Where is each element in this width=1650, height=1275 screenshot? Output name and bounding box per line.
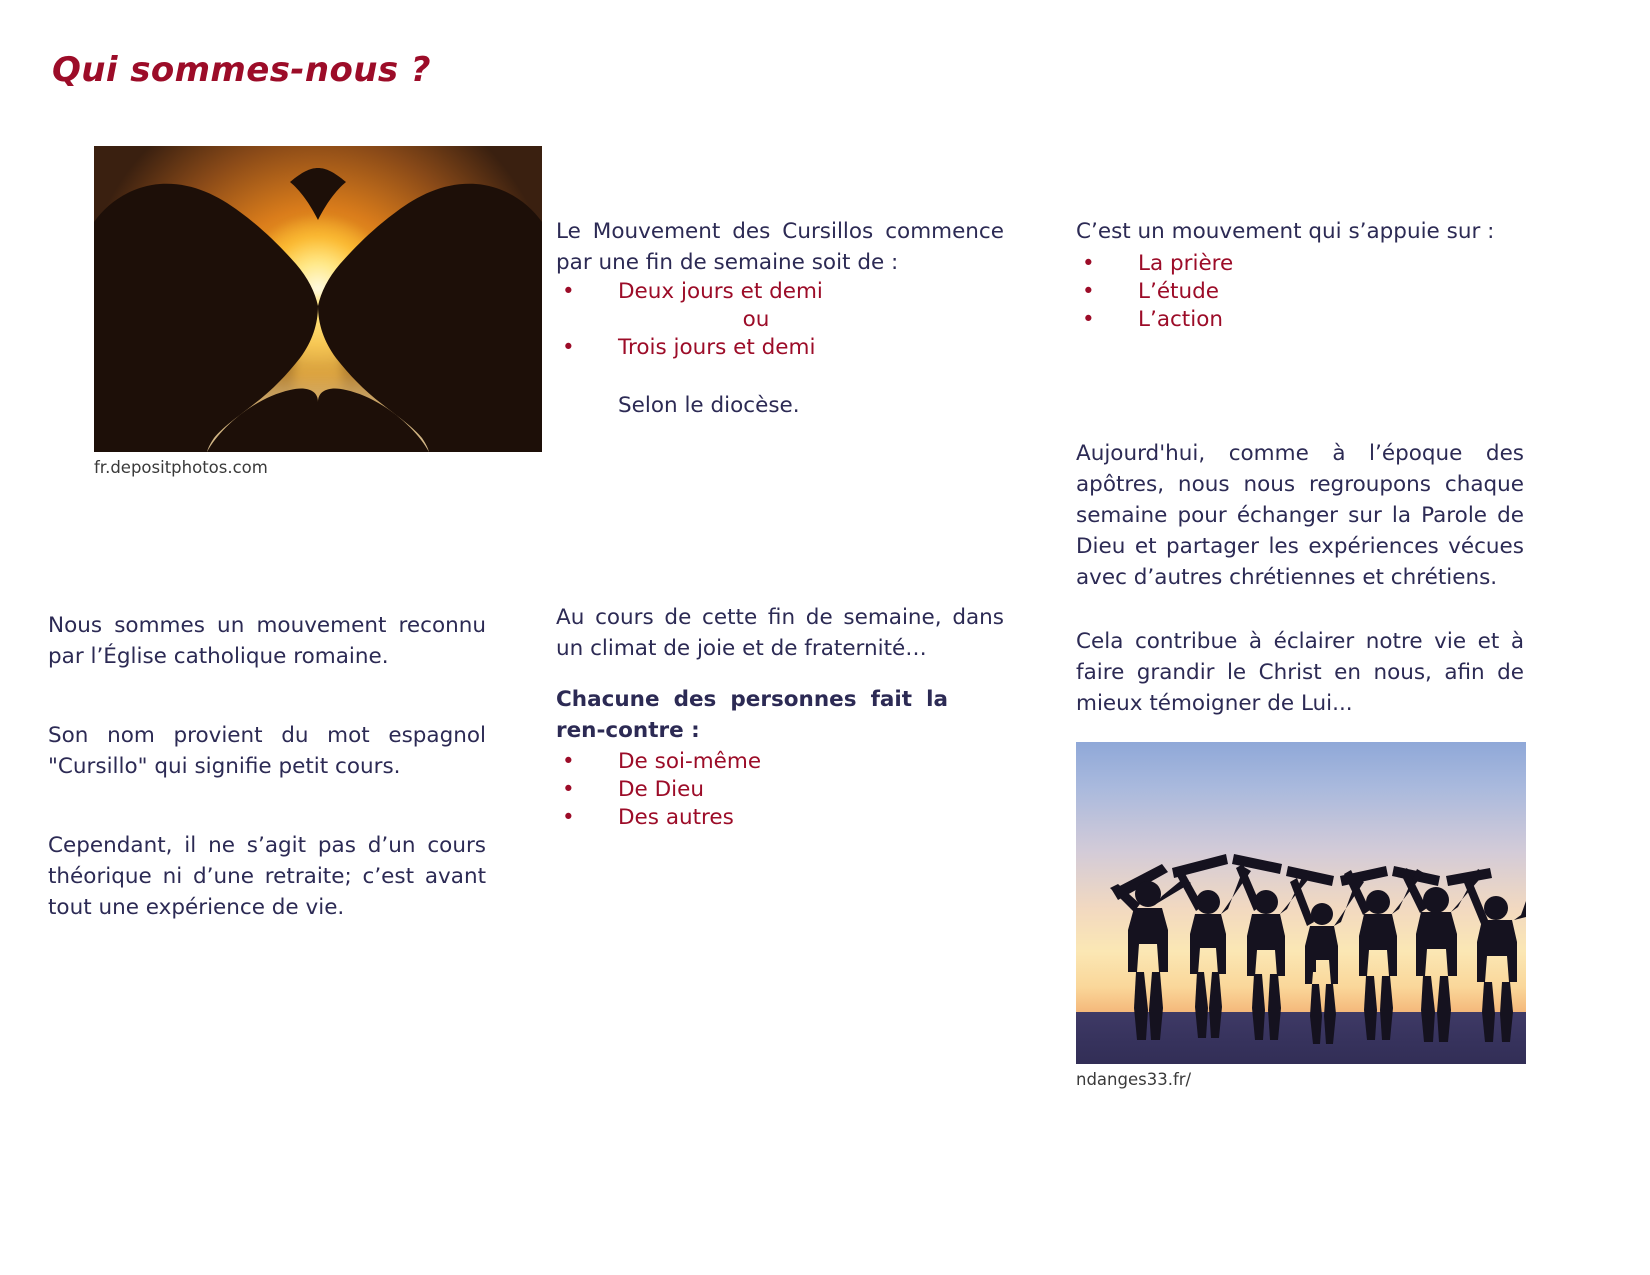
diocese-note: Selon le diocèse.	[618, 390, 800, 421]
bullet-dot-icon: •	[562, 278, 575, 306]
bullet-dot-icon: •	[562, 776, 575, 804]
bullet-dot-icon: •	[1082, 306, 1095, 334]
meeting-bullet-list: • De soi-même • De Dieu • Des autres	[556, 748, 1004, 832]
list-item: • Trois jours et demi	[556, 334, 1004, 362]
bullet-dot-icon: •	[1082, 250, 1095, 278]
people-silhouettes-photo-caption: ndanges33.fr/	[1076, 1064, 1526, 1091]
weekend-paragraph: Au cours de cette fin de semaine, dans u…	[556, 602, 1004, 664]
heart-hands-sunset-photo	[94, 146, 542, 452]
list-item: • L’étude	[1076, 278, 1524, 306]
pillars-intro-paragraph: C’est un mouvement qui s’appuie sur :	[1076, 216, 1524, 247]
meeting-heading: Chacune des personnes fait la ren-contre…	[556, 684, 948, 746]
list-item-label: La prière	[1138, 251, 1233, 276]
people-silhouettes-sunset-photo	[1076, 742, 1526, 1064]
heart-hands-sunset-figure: fr.depositphotos.com	[94, 146, 542, 479]
duration-bullet-list-2: • Trois jours et demi	[556, 334, 1004, 362]
right-paragraph-1: Aujourd'hui, comme à l’époque des apôtre…	[1076, 438, 1524, 593]
duration-bullet-list: • Deux jours et demi	[556, 278, 1004, 306]
right-column: C’est un mouvement qui s’appuie sur : • …	[1076, 0, 1524, 1275]
bullet-dot-icon: •	[1082, 278, 1095, 306]
middle-column: Le Mouvement des Cursillos commence par …	[556, 0, 1004, 1275]
bullet-dot-icon: •	[562, 748, 575, 776]
bullet-dot-icon: •	[562, 804, 575, 832]
left-paragraph-2: Son nom provient du mot espagnol "Cursil…	[48, 720, 486, 782]
heart-hands-photo-caption: fr.depositphotos.com	[94, 452, 542, 479]
pillars-bullet-list: • La prière • L’étude • L’action	[1076, 250, 1524, 334]
list-item: • Deux jours et demi	[556, 278, 1004, 306]
list-item-label: L’étude	[1138, 279, 1219, 304]
left-paragraph-3: Cependant, il ne s’agit pas d’un cours t…	[48, 830, 486, 923]
list-item: • La prière	[1076, 250, 1524, 278]
hands-heart-silhouette-icon	[94, 146, 542, 452]
people-silhouettes-figure: ndanges33.fr/	[1076, 742, 1526, 1091]
list-item-label: De Dieu	[618, 777, 704, 802]
list-item-label: Trois jours et demi	[618, 335, 815, 360]
people-holding-hands-silhouette-icon	[1076, 742, 1526, 1064]
list-item-label: L’action	[1138, 307, 1223, 332]
right-paragraph-2: Cela contribue à éclairer notre vie et à…	[1076, 626, 1524, 719]
left-paragraph-1: Nous sommes un mouvement reconnu par l’É…	[48, 610, 486, 672]
list-item-label: De soi-même	[618, 749, 761, 774]
list-item-label: Deux jours et demi	[618, 279, 823, 304]
list-item: • Des autres	[556, 804, 1004, 832]
left-column: fr.depositphotos.com Nous sommes un mouv…	[48, 0, 486, 1275]
list-item: • De soi-même	[556, 748, 1004, 776]
middle-intro-paragraph: Le Mouvement des Cursillos commence par …	[556, 216, 1004, 278]
list-item-label: Des autres	[618, 805, 734, 830]
list-item: • De Dieu	[556, 776, 1004, 804]
bullet-dot-icon: •	[562, 334, 575, 362]
list-item: • L’action	[1076, 306, 1524, 334]
or-separator: ou	[556, 306, 956, 334]
